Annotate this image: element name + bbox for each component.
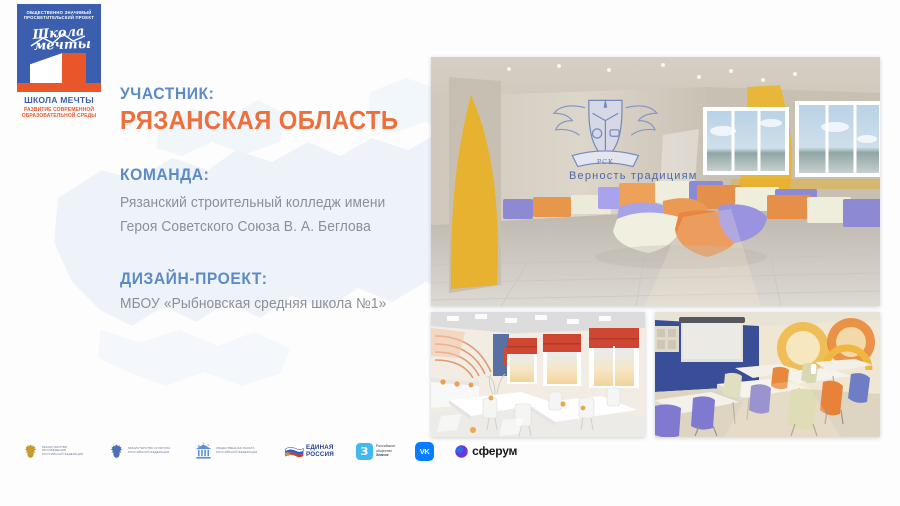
- er-line2: РОССИЯ: [306, 451, 334, 458]
- edinaya-rossiya-logo: ЕДИНАЯ РОССИЯ: [282, 443, 336, 459]
- logo-header-line2: ПРОСВЕТИТЕЛЬСКИЙ ПРОЕКТ: [22, 15, 96, 20]
- minprosvet-logo: МИНИСТЕРСТВО ПРОСВЕЩЕНИЯ РОССИЙСКОЙ ФЕДЕ…: [22, 439, 88, 463]
- logo-subtitle-line2: ОБРАЗОВАТЕЛЬНОЙ СРЕДЫ: [17, 113, 101, 119]
- znanie-label: Российское общество Знание: [376, 444, 395, 458]
- team-label: КОМАНДА:: [120, 165, 414, 185]
- participant-label: УЧАСТНИК:: [120, 84, 414, 104]
- partner-logo-strip: МИНИСТЕРСТВО ПРОСВЕЩЕНИЯ РОССИЙСКОЙ ФЕДЕ…: [22, 438, 517, 464]
- photo-main: РСК Верность традициям: [431, 57, 880, 306]
- vk-icon: VK: [420, 447, 430, 456]
- svg-text:РСК: РСК: [597, 158, 614, 166]
- palata-icon: [194, 442, 213, 461]
- school-building-accent: [62, 53, 86, 83]
- team-line-1: Рязанский строительный колледж имени: [120, 191, 424, 215]
- minprosvet-label: МИНИСТЕРСТВО ПРОСВЕЩЕНИЯ РОССИЙСКОЙ ФЕДЕ…: [42, 446, 88, 457]
- minkultury-label: МИНИСТЕРСТВО КУЛЬТУРЫ РОССИЙСКОЙ ФЕДЕРАЦ…: [128, 447, 174, 454]
- edinaya-rossiya-label: ЕДИНАЯ РОССИЯ: [306, 444, 334, 458]
- palata-label: ОБЩЕСТВЕННАЯ ПАЛАТА РОССИЙСКОЙ ФЕДЕРАЦИИ: [216, 447, 262, 454]
- sferum-label: сферум: [472, 444, 517, 458]
- logo-emblem-box: ОБЩЕСТВЕННО ЗНАЧИМЫЙ ПРОСВЕТИТЕЛЬСКИЙ ПР…: [17, 4, 101, 92]
- flag-icon: [284, 445, 304, 458]
- logo-subtitle: РАЗВИТИЕ СОВРЕМЕННОЙ ОБРАЗОВАТЕЛЬНОЙ СРЕ…: [17, 107, 101, 120]
- znanie-line3: Знание: [376, 453, 389, 457]
- er-line1: ЕДИНАЯ: [306, 444, 334, 451]
- znanie-badge-icon: З: [356, 443, 373, 460]
- photo-cafeteria: [431, 312, 645, 437]
- logo-base-bar: [17, 83, 101, 92]
- logo-header-text: ОБЩЕСТВЕННО ЗНАЧИМЫЙ ПРОСВЕТИТЕЛЬСКИЙ ПР…: [17, 4, 101, 21]
- vk-logo: VK: [415, 442, 434, 461]
- znanie-logo: З Российское общество Знание: [356, 443, 395, 460]
- logo-script-wordmark: Школа мечты: [17, 25, 101, 55]
- logo-title: ШКОЛА МЕЧТЫ: [17, 95, 101, 105]
- participant-region: РЯЗАНСКАЯ ОБЛАСТЬ: [120, 105, 414, 135]
- team-block: КОМАНДА: Рязанский строительный колледж …: [120, 165, 440, 239]
- presentation-slide: ОБЩЕСТВЕННО ЗНАЧИМЫЙ ПРОСВЕТИТЕЛЬСКИЙ ПР…: [0, 0, 900, 506]
- minkultury-logo: МИНИСТЕРСТВО КУЛЬТУРЫ РОССИЙСКОЙ ФЕДЕРАЦ…: [108, 439, 174, 463]
- design-label: ДИЗАЙН-ПРОЕКТ:: [120, 269, 414, 289]
- wall-motto-text: Верность традициям: [569, 170, 698, 182]
- logo-script-line2: мечты: [23, 38, 101, 53]
- shkola-mechty-logo: ОБЩЕСТВЕННО ЗНАЧИМЫЙ ПРОСВЕТИТЕЛЬСКИЙ ПР…: [17, 4, 101, 120]
- sferum-circle-icon: [454, 444, 469, 459]
- sferum-logo: сферум: [454, 444, 517, 459]
- double-eagle-gold-icon: [22, 443, 39, 460]
- design-value: МБОУ «Рыбновская средняя школа №1»: [120, 292, 424, 316]
- team-line-2: Героя Советского Союза В. А. Беглова: [120, 215, 424, 239]
- double-eagle-blue-icon: [108, 443, 125, 460]
- slide-text-column: УЧАСТНИК: РЯЗАНСКАЯ ОБЛАСТЬ КОМАНДА: Ряз…: [120, 84, 440, 316]
- obshchestvennaya-palata-logo: ОБЩЕСТВЕННАЯ ПАЛАТА РОССИЙСКОЙ ФЕДЕРАЦИИ: [194, 439, 262, 463]
- photo-classroom: [655, 312, 880, 437]
- design-block: ДИЗАЙН-ПРОЕКТ: МБОУ «Рыбновская средняя …: [120, 269, 440, 316]
